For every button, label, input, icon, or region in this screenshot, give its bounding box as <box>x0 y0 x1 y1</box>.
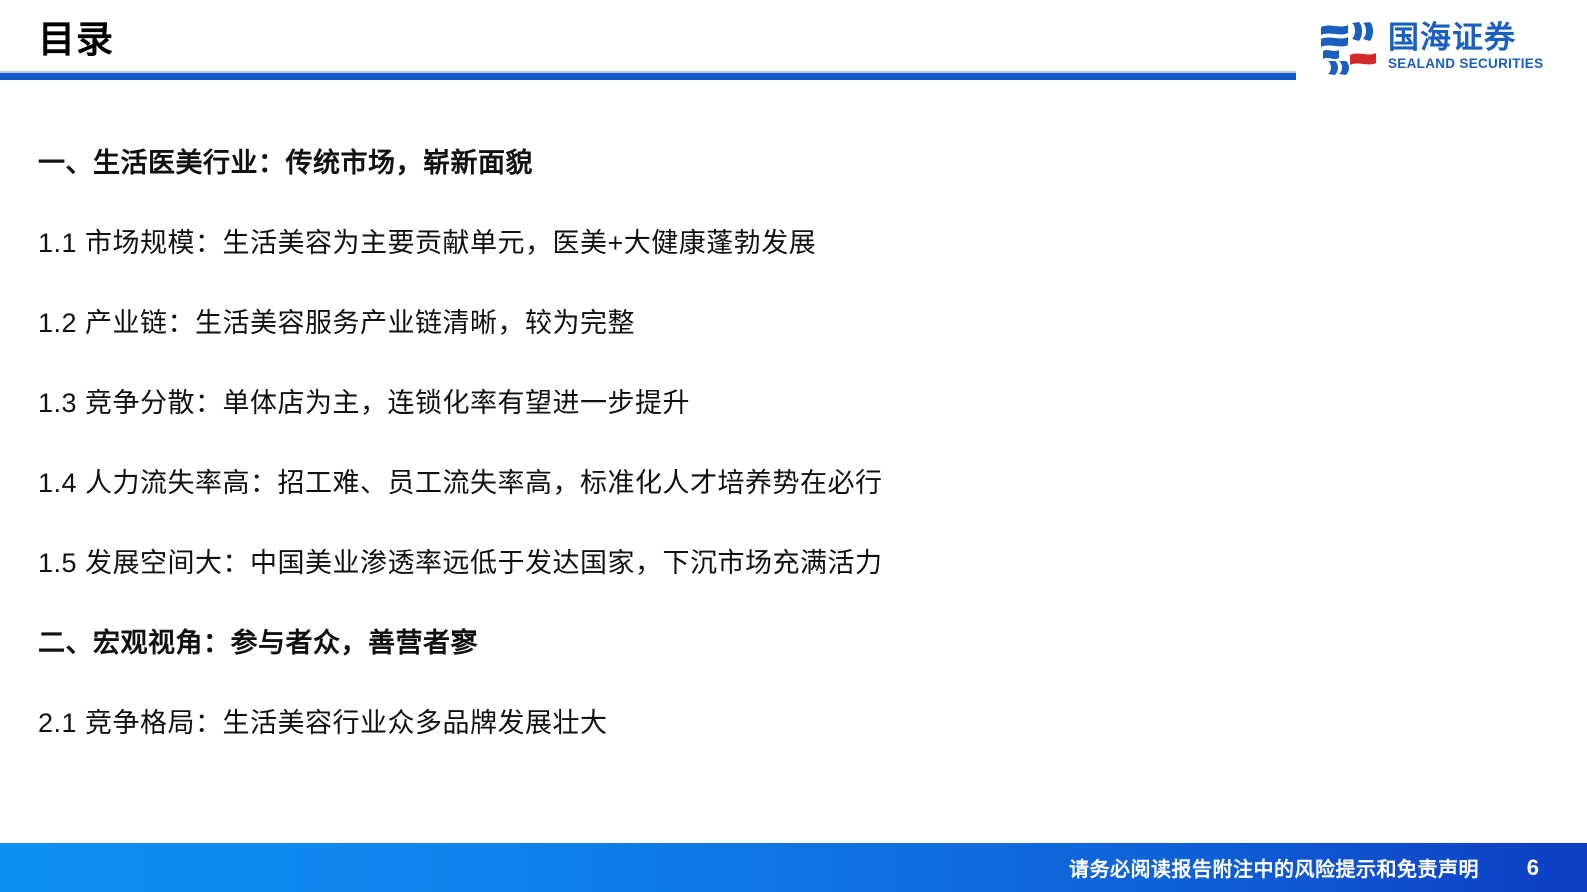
slide-footer: 请务必阅读报告附注中的风险提示和免责声明 6 <box>0 843 1587 892</box>
footer-disclaimer: 请务必阅读报告附注中的风险提示和免责声明 <box>1069 843 1479 892</box>
page-title: 目录 <box>38 20 114 61</box>
page-number: 6 <box>1527 843 1539 892</box>
toc-item[interactable]: 1.3 竞争分散：单体店为主，连锁化率有望进一步提升 <box>38 360 1438 440</box>
logo-wordmark: 国海证券 SEALAND SECURITIES <box>1388 22 1543 73</box>
toc-item[interactable]: 1.5 发展空间大：中国美业渗透率远低于发达国家，下沉市场充满活力 <box>38 520 1438 600</box>
logo-english-name: SEALAND SECURITIES <box>1388 56 1543 72</box>
table-of-contents: 一、生活医美行业：传统市场，崭新面貌 1.1 市场规模：生活美容为主要贡献单元，… <box>38 120 1438 760</box>
logo-chinese-name: 国海证券 <box>1388 22 1543 55</box>
toc-item[interactable]: 1.4 人力流失率高：招工难、员工流失率高，标准化人才培养势在必行 <box>38 440 1438 520</box>
toc-item[interactable]: 2.1 竞争格局：生活美容行业众多品牌发展壮大 <box>38 680 1438 760</box>
company-logo: 国海证券 SEALAND SECURITIES <box>1318 16 1580 78</box>
toc-item[interactable]: 1.1 市场规模：生活美容为主要贡献单元，医美+大健康蓬勃发展 <box>38 200 1438 280</box>
header-divider <box>0 71 1296 80</box>
toc-item[interactable]: 二、宏观视角：参与者众，善营者寥 <box>38 600 1438 680</box>
toc-item[interactable]: 一、生活医美行业：传统市场，崭新面貌 <box>38 120 1438 200</box>
toc-item[interactable]: 1.2 产业链：生活美容服务产业链清晰，较为完整 <box>38 280 1438 360</box>
sealand-logo-mark-icon <box>1318 19 1380 75</box>
